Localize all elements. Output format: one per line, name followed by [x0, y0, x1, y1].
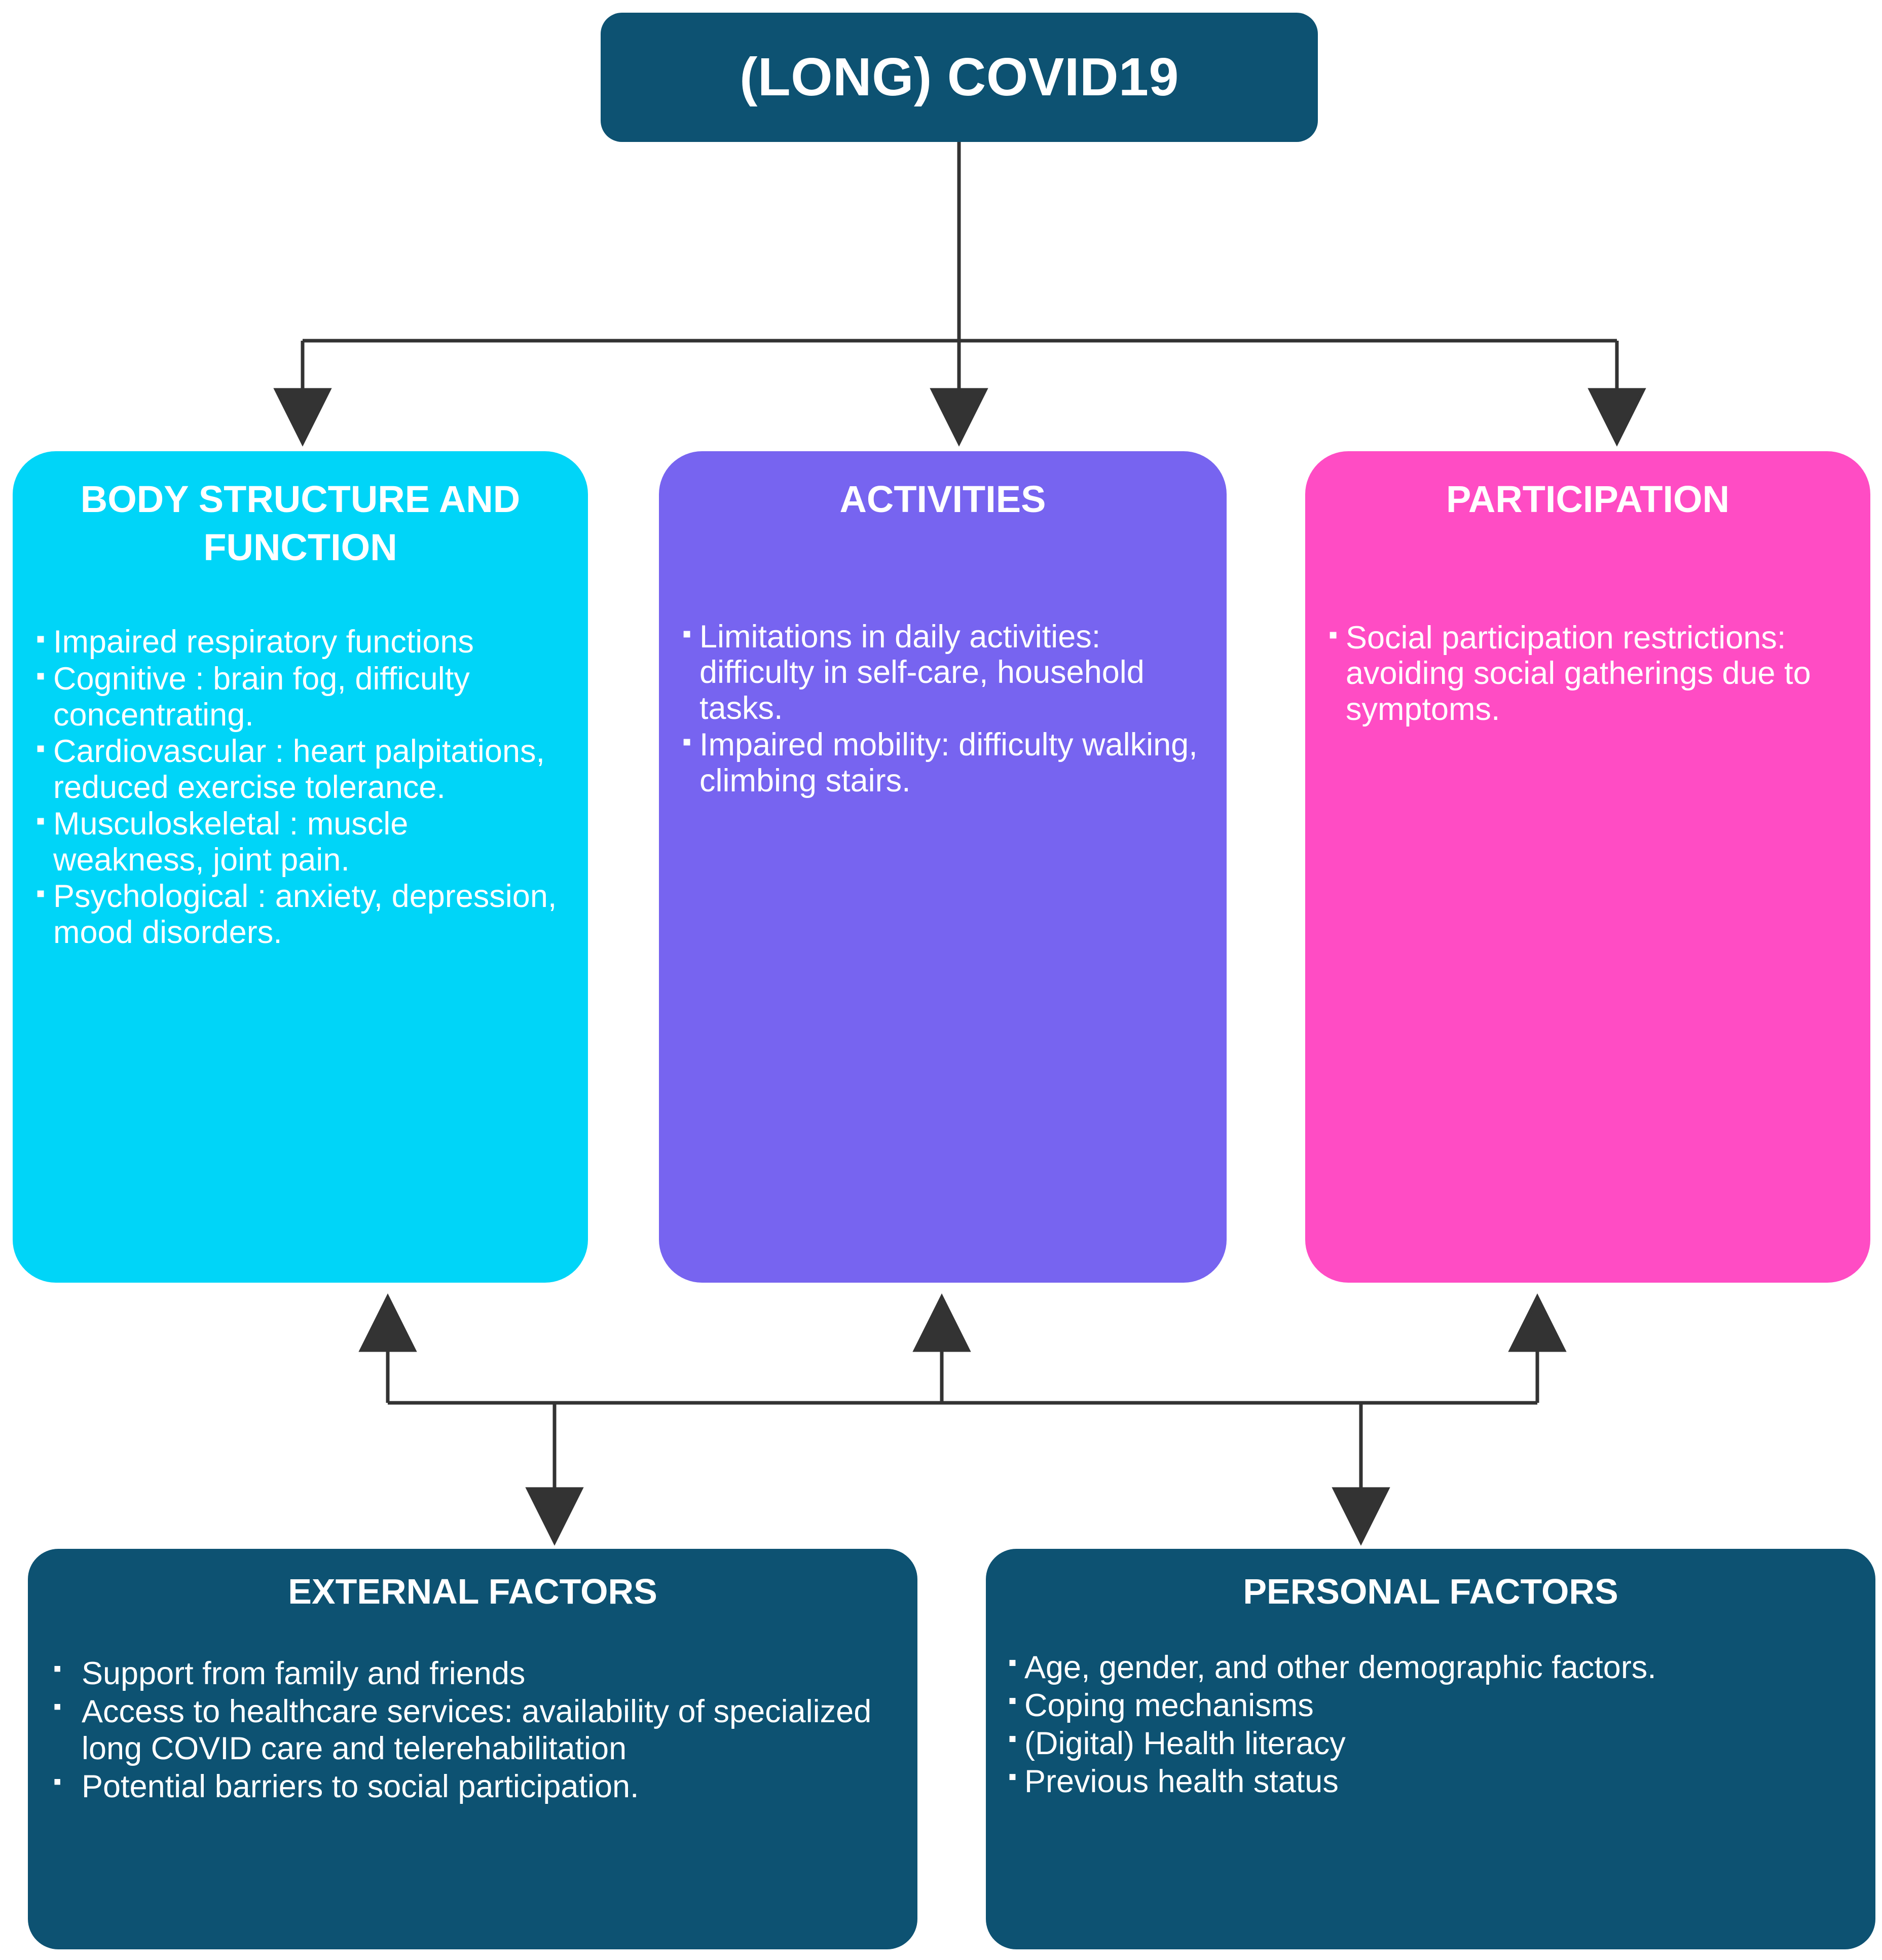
node-long-covid19: (LONG) COVID19 — [601, 13, 1318, 142]
list-item: ▪Musculoskeletal : muscle weakness, join… — [36, 806, 565, 878]
list-item-text: Support from family and friends — [82, 1655, 895, 1692]
arrowhead-up-activities — [915, 1297, 968, 1350]
node-long-covid19-title: (LONG) COVID19 — [740, 49, 1179, 105]
node-personal-factors-title: PERSONAL FACTORS — [1008, 1570, 1853, 1613]
square-bullet-icon: ▪ — [36, 806, 53, 836]
arrowhead-up-participation — [1511, 1297, 1564, 1350]
bullet-list-body-structure-and-function: ▪Impaired respiratory functions ▪Cogniti… — [36, 624, 565, 950]
list-item: ▪(Digital) Health literacy — [1008, 1725, 1853, 1762]
list-item: ▪Potential barriers to social participat… — [50, 1768, 895, 1805]
list-item-text: Cognitive : brain fog, difficulty concen… — [53, 661, 562, 733]
list-item-text: Musculoskeletal : muscle weakness, joint… — [53, 806, 562, 878]
list-item: ▪Coping mechanisms — [1008, 1687, 1853, 1724]
list-item-text: Age, gender, and other demographic facto… — [1024, 1649, 1850, 1686]
square-bullet-icon: ▪ — [50, 1693, 82, 1720]
node-participation: PARTICIPATION ▪Social participation rest… — [1305, 451, 1870, 1283]
square-bullet-icon: ▪ — [36, 661, 53, 691]
list-item-text: Limitations in daily activities: difficu… — [699, 619, 1200, 727]
list-item: ▪Age, gender, and other demographic fact… — [1008, 1649, 1853, 1686]
arrowhead-down-participation — [1591, 390, 1643, 443]
list-item: ▪Previous health status — [1008, 1763, 1853, 1800]
list-item: ▪Access to healthcare services: availabi… — [50, 1693, 895, 1767]
square-bullet-icon: ▪ — [36, 624, 53, 654]
list-item: ▪Cognitive : brain fog, difficulty conce… — [36, 661, 565, 733]
list-item: ▪Social participation restrictions: avoi… — [1329, 620, 1847, 728]
node-activities-title: ACTIVITIES — [682, 476, 1203, 524]
list-item: ▪Cardiovascular : heart palpitations, re… — [36, 734, 565, 805]
arrowhead-up-body — [361, 1297, 414, 1350]
list-item-text: Psychological : anxiety, depression, moo… — [53, 879, 562, 950]
arrowhead-down-personal — [1335, 1489, 1387, 1542]
list-item: ▪Impaired respiratory functions — [36, 624, 565, 660]
arrowhead-down-external — [528, 1489, 581, 1542]
list-item-text: Cardiovascular : heart palpitations, red… — [53, 734, 562, 805]
node-body-structure-and-function-title: BODY STRUCTURE AND FUNCTION — [36, 476, 565, 571]
node-activities: ACTIVITIES ▪Limitations in daily activit… — [659, 451, 1227, 1283]
arrowhead-down-activities — [933, 390, 985, 443]
square-bullet-icon: ▪ — [1008, 1649, 1024, 1677]
node-external-factors: EXTERNAL FACTORS ▪Support from family an… — [28, 1549, 917, 1949]
square-bullet-icon: ▪ — [50, 1768, 82, 1795]
square-bullet-icon: ▪ — [682, 619, 699, 648]
list-item-text: Coping mechanisms — [1024, 1687, 1850, 1724]
list-item: ▪Psychological : anxiety, depression, mo… — [36, 879, 565, 950]
node-personal-factors: PERSONAL FACTORS ▪Age, gender, and other… — [986, 1549, 1875, 1949]
list-item: ▪Limitations in daily activities: diffic… — [682, 619, 1203, 727]
square-bullet-icon: ▪ — [36, 879, 53, 908]
list-item-text: Potential barriers to social participati… — [82, 1768, 895, 1805]
square-bullet-icon: ▪ — [1008, 1725, 1024, 1753]
bullet-list-participation: ▪Social participation restrictions: avoi… — [1329, 620, 1847, 728]
square-bullet-icon: ▪ — [682, 727, 699, 756]
list-item: ▪Support from family and friends — [50, 1655, 895, 1692]
square-bullet-icon: ▪ — [1008, 1763, 1024, 1791]
list-item: ▪Impaired mobility: difficulty walking, … — [682, 727, 1203, 798]
arrowhead-down-body — [276, 390, 329, 443]
list-item-text: Previous health status — [1024, 1763, 1850, 1800]
bullet-list-external-factors: ▪Support from family and friends ▪Access… — [50, 1655, 895, 1805]
node-participation-title: PARTICIPATION — [1329, 476, 1847, 524]
node-external-factors-title: EXTERNAL FACTORS — [50, 1570, 895, 1613]
bullet-list-personal-factors: ▪Age, gender, and other demographic fact… — [1008, 1649, 1853, 1800]
square-bullet-icon: ▪ — [1329, 620, 1346, 649]
list-item-text: (Digital) Health literacy — [1024, 1725, 1850, 1762]
icf-long-covid-diagram: (LONG) COVID19 BODY STRUCTURE AND FUNCTI… — [0, 0, 1882, 1960]
list-item-text: Impaired respiratory functions — [53, 624, 562, 660]
node-body-structure-and-function: BODY STRUCTURE AND FUNCTION ▪Impaired re… — [13, 451, 588, 1283]
list-item-text: Impaired mobility: difficulty walking, c… — [699, 727, 1200, 798]
bullet-list-activities: ▪Limitations in daily activities: diffic… — [682, 619, 1203, 799]
square-bullet-icon: ▪ — [36, 734, 53, 763]
list-item-text: Access to healthcare services: availabil… — [82, 1693, 895, 1767]
square-bullet-icon: ▪ — [1008, 1687, 1024, 1715]
square-bullet-icon: ▪ — [50, 1655, 82, 1682]
list-item-text: Social participation restrictions: avoid… — [1346, 620, 1844, 728]
